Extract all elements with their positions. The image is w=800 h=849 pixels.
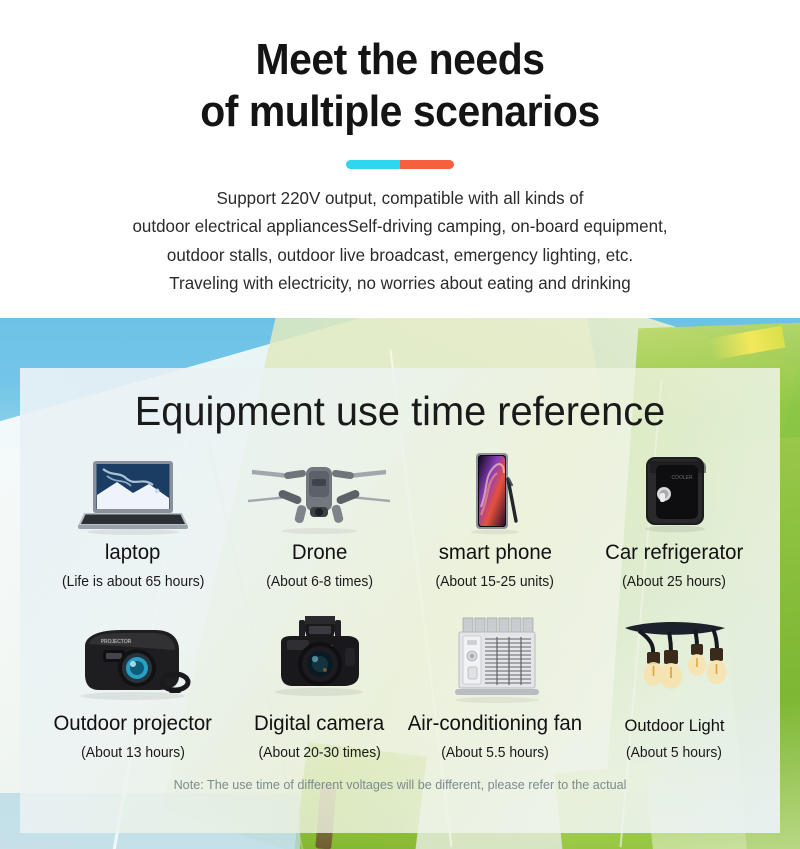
equipment-item-smartphone: smart phone (About 15-25 units) [407, 445, 583, 590]
equipment-sublabel: (About 15-25 units) [436, 574, 554, 590]
equipment-item-car-refrigerator: COOLER Car refrigerator (About 25 hours) [583, 445, 766, 590]
air-conditioner-icon [439, 612, 551, 708]
camping-scene-photo: Equipment use time reference [0, 318, 800, 849]
page-title-line-2: of multiple scenarios [28, 86, 772, 138]
svg-text:PROJECTOR: PROJECTOR [100, 639, 131, 645]
laptop-icon [73, 445, 193, 537]
equipment-grid-row-1: laptop (Life is about 65 hours) [34, 445, 766, 590]
card-title: Equipment use time reference [45, 388, 755, 435]
equipment-label: laptop [105, 541, 161, 565]
hero-subtitle-line-3: outdoor stalls, outdoor live broadcast, … [31, 241, 768, 269]
hero-subtitle-line-4: Traveling with electricity, no worries a… [31, 269, 768, 297]
smartphone-icon [450, 445, 540, 537]
dslr-camera-icon: Canon [259, 612, 379, 708]
hero-section: Meet the needs of multiple scenarios Sup… [0, 0, 800, 318]
equipment-sublabel: (About 6-8 times) [266, 574, 373, 590]
string-lights-icon [609, 616, 739, 712]
equipment-label: Car refrigerator [605, 541, 743, 565]
drone-icon [244, 445, 394, 537]
equipment-label: Outdoor projector [54, 712, 213, 736]
equipment-item-drone: Drone (About 6-8 times) [232, 445, 408, 590]
equipment-label: smart phone [439, 541, 552, 565]
equipment-sublabel: (About 5 hours) [626, 745, 722, 761]
equipment-item-laptop: laptop (Life is about 65 hours) [34, 445, 232, 590]
equipment-item-outdoor-light: Outdoor Light (About 5 hours) [583, 612, 766, 761]
equipment-sublabel: (About 25 hours) [623, 574, 727, 590]
projector-icon: PROJECTOR [63, 612, 203, 708]
divider-segment-cyan [346, 160, 400, 169]
page-title: Meet the needs of multiple scenarios [28, 34, 772, 138]
svg-text:COOLER: COOLER [672, 475, 694, 481]
title-divider [0, 160, 800, 170]
hero-subtitle-line-2: outdoor electrical appliancesSelf-drivin… [31, 212, 768, 240]
page-title-line-1: Meet the needs [28, 34, 772, 86]
equipment-label: Drone [292, 541, 347, 565]
car-refrigerator-icon: COOLER [626, 445, 722, 537]
hero-subtitle: Support 220V output, compatible with all… [31, 184, 768, 297]
equipment-label: Air-conditioning fan [408, 712, 582, 736]
equipment-label: Outdoor Light [624, 716, 724, 736]
equipment-sublabel: (About 20-30 times) [258, 745, 380, 761]
card-note: Note: The use time of different voltages… [45, 777, 755, 792]
equipment-reference-card: Equipment use time reference [20, 368, 780, 833]
equipment-sublabel: (About 13 hours) [81, 745, 185, 761]
divider-segment-orange [400, 160, 454, 169]
hero-subtitle-line-1: Support 220V output, compatible with all… [31, 184, 768, 212]
equipment-item-air-conditioner: Air-conditioning fan (About 5.5 hours) [407, 612, 583, 761]
equipment-label: Digital camera [254, 712, 384, 736]
equipment-item-camera: Canon Digital camera (About 20-30 times) [232, 612, 408, 761]
equipment-sublabel: (About 5.5 hours) [441, 745, 549, 761]
equipment-item-projector: PROJECTOR Ou [34, 612, 232, 761]
equipment-grid-row-2: PROJECTOR Ou [34, 612, 766, 761]
equipment-sublabel: (Life is about 65 hours) [62, 574, 204, 590]
